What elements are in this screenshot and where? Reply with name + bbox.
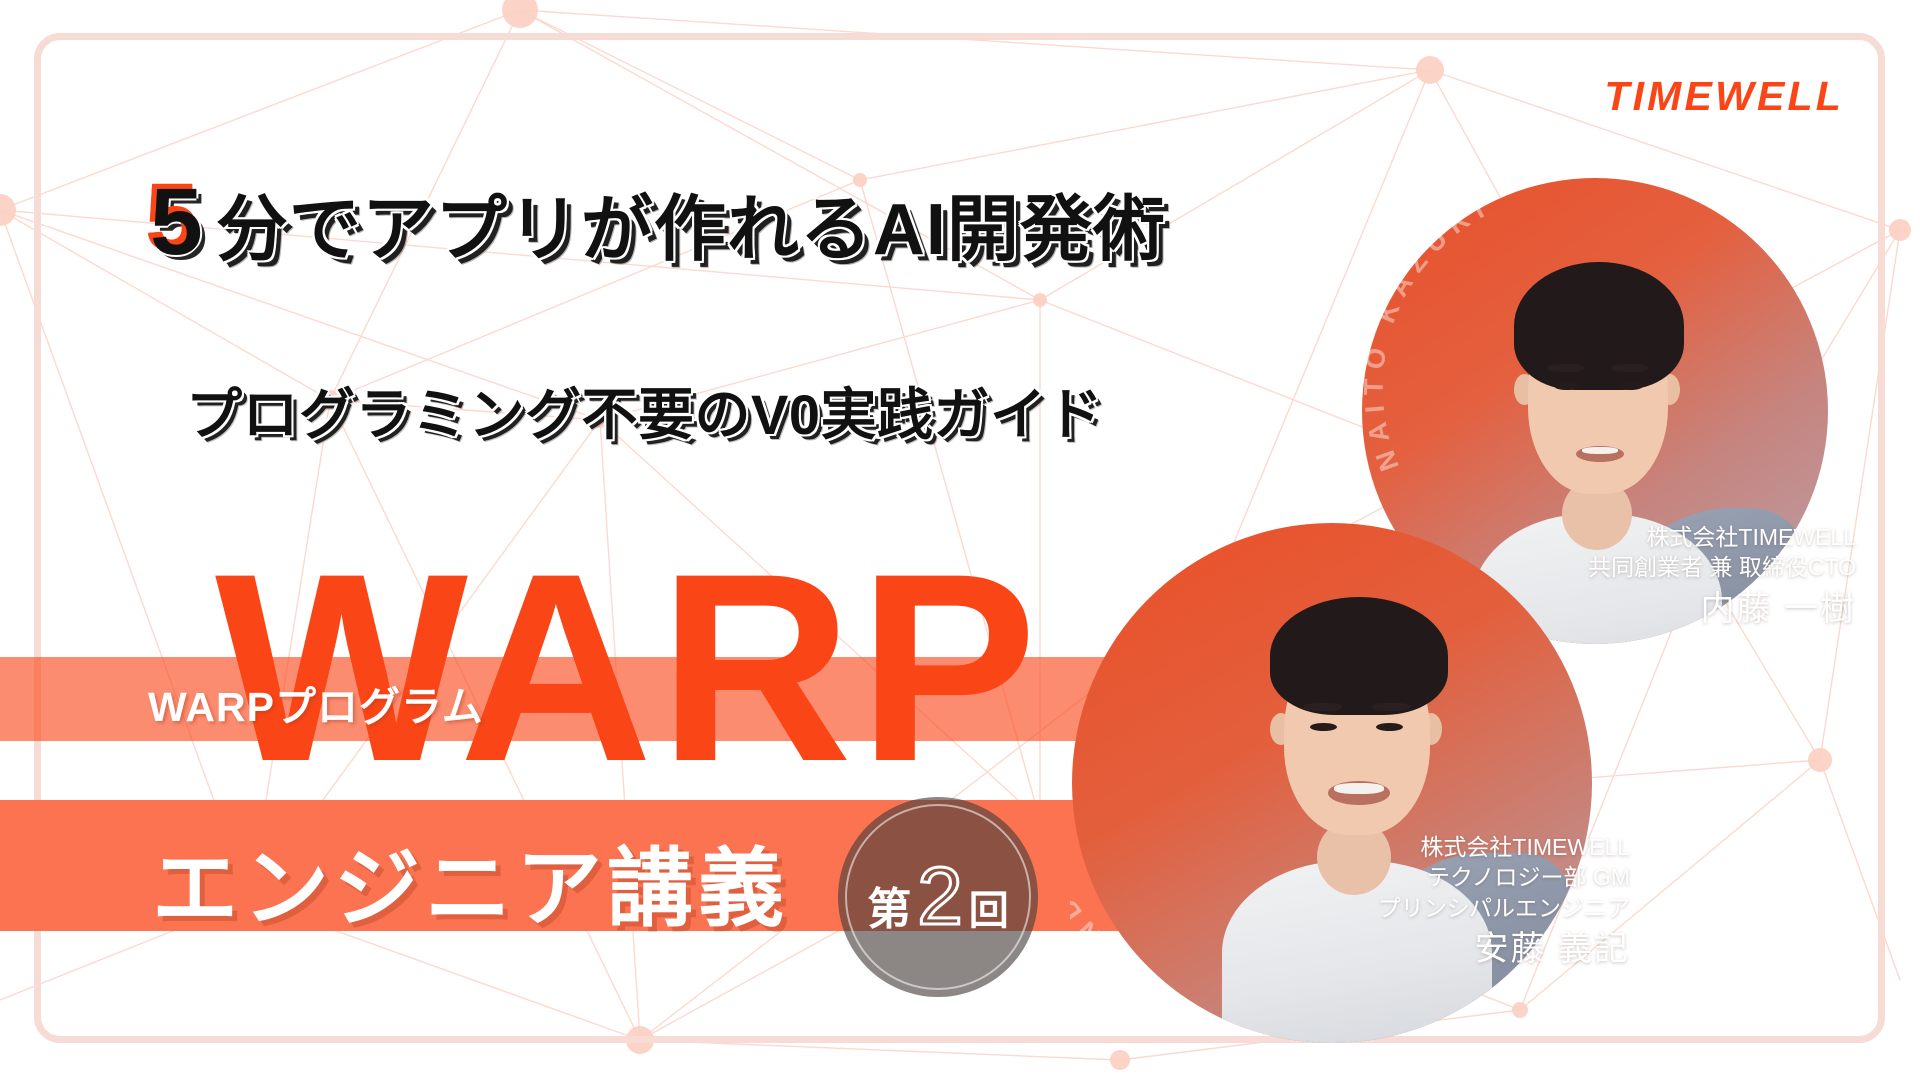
speaker-role-ando-2: プリンシパルエンジニア <box>1378 893 1630 923</box>
speaker-caption-ando: 株式会社TIMEWELL テクノロジー部 GM プリンシパルエンジニア 安藤 義… <box>1378 832 1630 972</box>
speaker-name-ando: 安藤 義記 <box>1378 927 1630 972</box>
portrait-eye-left <box>1310 723 1337 731</box>
episode-badge-inner: 第 2 回 <box>867 856 1009 938</box>
portrait-brow-left <box>1548 364 1584 372</box>
episode-badge-number: 2 <box>917 856 963 938</box>
headline-lead-number: 5 <box>150 169 204 275</box>
portrait-hair <box>1514 262 1684 390</box>
headline-group: 5分でアプリが作れるAI開発術 <box>150 175 1166 270</box>
portrait-eye-left <box>1554 382 1579 390</box>
program-banner-label: WARPプログラム <box>148 673 484 733</box>
slide-canvas: TIMEWELL 5分でアプリが作れるAI開発術 プログラミング不要のV0実践ガ… <box>0 0 1920 1080</box>
portrait-eye-right <box>1618 382 1643 390</box>
portrait-brow-right <box>1612 364 1648 372</box>
portrait-hair <box>1270 597 1448 715</box>
portrait-eye-right <box>1376 723 1403 731</box>
speaker-role-naito: 共同創業者 兼 取締役CTO <box>1588 552 1856 582</box>
portrait-brow-left <box>1304 703 1342 711</box>
speaker-company-ando: 株式会社TIMEWELL <box>1378 832 1630 862</box>
episode-badge-prefix: 第 <box>867 873 911 937</box>
timewell-logo: TIMEWELL <box>1604 73 1844 120</box>
portrait-brow-right <box>1372 703 1410 711</box>
episode-badge-suffix: 回 <box>969 878 1009 936</box>
speaker-company-naito: 株式会社TIMEWELL <box>1588 522 1856 552</box>
portrait-teeth <box>1582 447 1618 454</box>
portrait-teeth <box>1334 783 1384 794</box>
headline-rest-text: 分でアプリが作れるAI開発術 <box>216 190 1166 270</box>
speaker-role-ando-1: テクノロジー部 GM <box>1378 862 1630 892</box>
page-title: 5分でアプリが作れるAI開発術 <box>150 175 1166 270</box>
speaker-name-naito: 内藤 一樹 <box>1588 587 1856 632</box>
episode-badge: 第 2 回 <box>838 797 1038 997</box>
page-subtitle: プログラミング不要のV0実践ガイド <box>186 370 1103 451</box>
speaker-caption-naito: 株式会社TIMEWELL 共同創業者 兼 取締役CTO 内藤 一樹 <box>1588 522 1856 632</box>
series-banner-label: エンジニア講義 <box>152 818 789 943</box>
